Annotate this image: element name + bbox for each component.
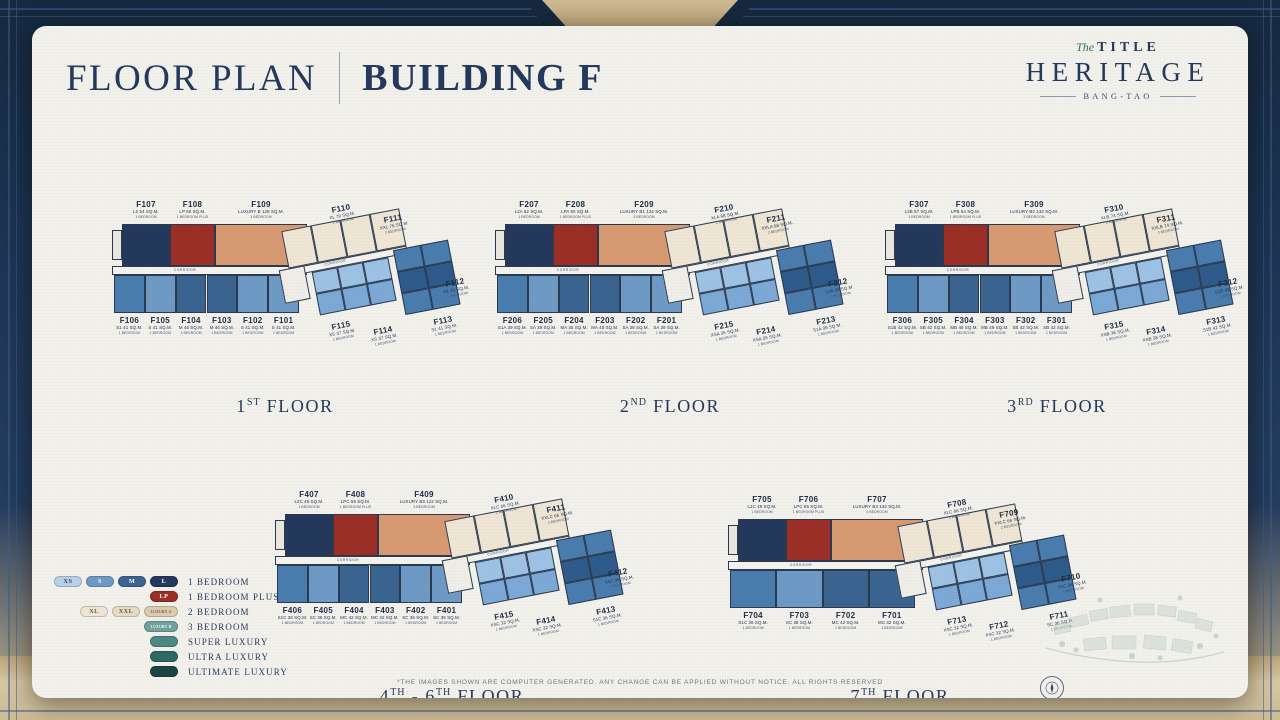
wing-blue-block-bottom-0[interactable] (1089, 289, 1119, 316)
unit-label-F302[interactable]: F302SB 42 SQ.M.1 BEDROOM (1012, 316, 1039, 336)
unit-block-F105[interactable] (145, 275, 176, 313)
legend-row: ULTIMATE LUXURY (50, 664, 310, 679)
corridor-label: CORRIDOR (337, 558, 359, 562)
unit-block-F205[interactable] (528, 275, 559, 313)
wing-blue-block-bottom-0[interactable] (932, 584, 962, 611)
unit-code: F207 (515, 200, 544, 209)
unit-label-F206[interactable]: F206S1A 39 SQ.M.1 BEDROOM (498, 316, 527, 336)
title-building: BUILDING F (362, 56, 603, 100)
floor-plan-floor-3[interactable]: F307L2B 57 SQ.M.1 BEDROOMF308LPB 64 SQ.M… (877, 186, 1237, 396)
legend-pill-m: M (118, 576, 146, 587)
unit-block-F202[interactable] (620, 275, 651, 313)
disclaimer-text: *THE IMAGES SHOWN ARE COMPUTER GENERATED… (32, 679, 1248, 686)
floor-caption-rest-2: FLOOR (451, 686, 524, 698)
floor-caption-rest: FLOOR (876, 686, 949, 698)
wing-tower-block-2-0[interactable] (784, 288, 816, 315)
unit-label-F112[interactable]: F112S1 41 SQ.M.1 BEDROOM (441, 276, 471, 301)
unit-label-F312[interactable]: F312S1B 42 SQ.M.1 BEDROOM (1213, 275, 1246, 300)
title-divider (339, 52, 340, 104)
unit-bedroom-type: 1 BEDROOM (148, 331, 172, 336)
wing-blue-block-bottom-2[interactable] (750, 279, 780, 306)
wing-blue-block-bottom-1[interactable] (504, 574, 534, 601)
unit-label-F314[interactable]: F314XSB 38 SQ.M.1 BEDROOM (1140, 323, 1173, 348)
unit-bedroom-type: 1 BEDROOM (981, 331, 1008, 336)
legend-pill-xxl: XXL (112, 606, 140, 617)
unit-code: F408 (340, 490, 372, 499)
unit-label-F703[interactable]: F703SC 36 SQ.M.1 BEDROOM (786, 611, 813, 631)
unit-label-F212[interactable]: F212S1A 39 SQ.M.1 BEDROOM (823, 275, 855, 300)
unit-block-F208[interactable] (553, 224, 598, 266)
unit-bedroom-type: 1 BEDROOM (1043, 331, 1070, 336)
unit-label-F202[interactable]: F202SA 39 SQ.M.1 BEDROOM (623, 316, 649, 336)
floor-plan-card: FLOOR PLAN BUILDING F TheTITLE HERITAGE … (32, 26, 1248, 698)
unit-bedroom-type: 1 BEDROOM (116, 331, 142, 336)
unit-bedroom-type: 1 BEDROOM (530, 331, 556, 336)
unit-label-F706[interactable]: F706LPC 55 SQ.M.1 BEDROOM PLUS (793, 495, 825, 515)
legend-label: ULTRA LUXURY (188, 652, 269, 662)
unit-label-F403[interactable]: F403MC 42 SQ.M.1 BEDROOM (371, 606, 399, 626)
wing-blue-block-bottom-2[interactable] (1140, 279, 1170, 306)
unit-bedroom-type: 1 BEDROOM PLUS (560, 215, 592, 220)
site-map-thumbnail (1040, 586, 1230, 672)
unit-label-F304[interactable]: F304MB 49 SQ.M.1 BEDROOM (950, 316, 977, 336)
unit-bedroom-type: 1 BEDROOM (340, 621, 368, 626)
wing-blue-block-bottom-0[interactable] (316, 289, 346, 316)
legend-label: 3 BEDROOM (188, 622, 250, 632)
floor-ordinal: ND (631, 397, 647, 408)
unit-bedroom-type: 1 BEDROOM (905, 215, 934, 220)
unit-block-F706[interactable] (786, 519, 831, 561)
legend-label: SUPER LUXURY (188, 637, 268, 647)
unit-code: F701 (878, 611, 906, 620)
floor-number: 7 (850, 686, 861, 698)
unit-code: F206 (498, 316, 527, 325)
unit-code: F303 (981, 316, 1008, 325)
unit-bedroom-type: 1 BEDROOM (738, 626, 768, 631)
legend-label: 1 BEDROOM (188, 577, 250, 587)
page-title: FLOOR PLAN BUILDING F (66, 52, 603, 104)
legend-pill-xl: XL (80, 606, 108, 617)
wing-blue-block-bottom-1[interactable] (341, 284, 371, 311)
unit-block-F303[interactable] (980, 275, 1011, 313)
floor-ordinal: TH (390, 687, 405, 698)
unit-block-F304[interactable] (949, 275, 980, 313)
stair-block-left[interactable] (112, 230, 122, 260)
unit-label-F105[interactable]: F105S 41 SQ.M.1 BEDROOM (148, 316, 172, 336)
unit-bedroom-type: 1 BEDROOM (294, 505, 323, 510)
unit-bedroom-type: 1 BEDROOM (950, 331, 977, 336)
unit-block-F402[interactable] (400, 565, 431, 603)
floor-number: 3 (1007, 396, 1018, 416)
unit-block-F306[interactable] (887, 275, 918, 313)
unit-label-F405[interactable]: F405SC 36 SQ.M.1 BEDROOM (310, 606, 337, 626)
unit-label-F204[interactable]: F204MA 45 SQ.M.1 BEDROOM (560, 316, 587, 336)
brand-title-line: TheTITLE (1018, 40, 1218, 56)
unit-code: F705 (747, 495, 776, 504)
stair-block-left[interactable] (728, 525, 738, 555)
unit-code: F107 (133, 200, 159, 209)
unit-label-F705[interactable]: F705L2C 49 SQ.M.1 BEDROOM (747, 495, 776, 515)
unit-label-F704[interactable]: F704S1C 36 SQ.M.1 BEDROOM (738, 611, 768, 631)
unit-bedroom-type: 1 BEDROOM (591, 331, 618, 336)
unit-code: F703 (786, 611, 813, 620)
unit-code: F202 (623, 316, 649, 325)
wing-tower-block-2-0[interactable] (1174, 288, 1206, 315)
unit-code: F305 (920, 316, 947, 325)
unit-label-F205[interactable]: F205SA 39 SQ.M.1 BEDROOM (530, 316, 556, 336)
unit-label-F408[interactable]: F408LPC 55 SQ.M.1 BEDROOM PLUS (340, 490, 372, 510)
unit-code: F702 (832, 611, 860, 620)
unit-bedroom-type: 1 BEDROOM (133, 215, 159, 220)
title-floor-plan: FLOOR PLAN (66, 57, 317, 100)
unit-bedroom-type: 1 BEDROOM PLUS (793, 510, 825, 515)
unit-bedroom-type: 1 BEDROOM PLUS (340, 505, 372, 510)
floor-caption-floor-3: 3RD FLOOR (937, 396, 1177, 417)
unit-label-F208[interactable]: F208LPA 50 SQ.M.1 BEDROOM PLUS (560, 200, 592, 220)
brand-heritage: HERITAGE (1018, 57, 1218, 88)
unit-block-F207[interactable] (505, 224, 553, 266)
corridor-label: CORRIDOR (790, 563, 812, 567)
unit-label-F108[interactable]: F108LP 60 SQ.M.1 BEDROOM PLUS (177, 200, 209, 220)
unit-label-F412[interactable]: F412S1C 36 SQ.M.1 BEDROOM (603, 565, 636, 590)
legend-pill-blank (150, 636, 178, 647)
unit-bedroom-type: 1 BEDROOM PLUS (177, 215, 209, 220)
unit-label-F214[interactable]: F214XSA 35 SQ.M.1 BEDROOM (751, 323, 784, 348)
unit-label-F307[interactable]: F307L2B 57 SQ.M.1 BEDROOM (905, 200, 934, 220)
floor-caption-rest: FLOOR (1034, 396, 1107, 416)
floor-caption-floor-4-6: 4TH - 6TH FLOOR (332, 686, 572, 698)
unit-bedroom-type: 1 BEDROOM (878, 626, 906, 631)
legend-pill-lp: LP (150, 591, 178, 602)
unit-bedroom-type: 1 BEDROOM (888, 331, 917, 336)
unit-bedroom-type: 1 BEDROOM PLUS (950, 215, 982, 220)
unit-block-F702[interactable] (823, 570, 869, 608)
unit-code: F103 (210, 316, 234, 325)
legend-pill-group (50, 666, 178, 677)
legend-pill-luxury-b: LUXURY B (144, 621, 178, 632)
legend-label: ULTIMATE LUXURY (188, 667, 288, 677)
unit-label-F203[interactable]: F203MA 45 SQ.M.1 BEDROOM (591, 316, 618, 336)
unit-label-F313[interactable]: F313S1B 42 SQ.M.1 BEDROOM (1201, 313, 1234, 338)
unit-code: F106 (116, 316, 142, 325)
unit-label-F701[interactable]: F701MC 42 SQ.M.1 BEDROOM (878, 611, 906, 631)
unit-bedroom-type: 1 BEDROOM (1012, 331, 1039, 336)
wing-blue-block-bottom-1[interactable] (724, 284, 754, 311)
unit-block-F204[interactable] (559, 275, 590, 313)
unit-code: F307 (905, 200, 934, 209)
unit-label-F404[interactable]: F404MC 42 SQ.M.1 BEDROOM (340, 606, 368, 626)
unit-code: F204 (560, 316, 587, 325)
legend-pill-blank (150, 651, 178, 662)
unit-label-F303[interactable]: F303MB 49 SQ.M.1 BEDROOM (981, 316, 1008, 336)
wing-blue-block-bottom-0[interactable] (479, 579, 509, 606)
unit-label-F114[interactable]: F114XS 37 SQ.M.1 BEDROOM (369, 324, 399, 349)
unit-label-F106[interactable]: F106S1 41 SQ.M.1 BEDROOM (116, 316, 142, 336)
unit-block-F107[interactable] (122, 224, 170, 266)
floor-plan-floor-7[interactable]: F705L2C 49 SQ.M.1 BEDROOMF706LPC 55 SQ.M… (720, 481, 1080, 691)
unit-block-F104[interactable] (176, 275, 207, 313)
brand-title: TITLE (1097, 40, 1160, 55)
stair-block-left[interactable] (495, 230, 505, 260)
legend-pill-s: S (86, 576, 114, 587)
stair-block-left[interactable] (885, 230, 895, 260)
unit-block-F102[interactable] (237, 275, 268, 313)
unit-label-F104[interactable]: F104M 46 SQ.M.1 BEDROOM (179, 316, 203, 336)
legend-row: LUXURY B3 BEDROOM (50, 619, 310, 634)
legend-row: ULTRA LUXURY (50, 649, 310, 664)
unit-label-F402[interactable]: F402SC 36 SQ.M.1 BEDROOM (402, 606, 429, 626)
unit-block-F203[interactable] (590, 275, 621, 313)
wing-blue-block-bottom-2[interactable] (367, 279, 397, 306)
unit-label-F102[interactable]: F102S 41 SQ.M.1 BEDROOM (241, 316, 265, 336)
floor-ordinal: RD (1018, 397, 1034, 408)
legend-row: XSSML1 BEDROOM (50, 574, 310, 589)
legend-pill-l: L (150, 576, 178, 587)
unit-code: F105 (148, 316, 172, 325)
floor-caption-floor-1: 1ST FLOOR (165, 396, 405, 417)
floor-number: 2 (620, 396, 631, 416)
unit-code: F208 (560, 200, 592, 209)
wing-blue-block-bottom-2[interactable] (983, 574, 1013, 601)
unit-bedroom-type: 1 BEDROOM (433, 621, 460, 626)
wing-tower-block-2-0[interactable] (401, 288, 433, 315)
unit-bedroom-type: 1 BEDROOM (920, 331, 947, 336)
unit-bedroom-type: 1 BEDROOM (210, 331, 234, 336)
unit-block-F405[interactable] (308, 565, 339, 603)
unit-bedroom-type: 1 BEDROOM (515, 215, 544, 220)
unit-block-F108[interactable] (170, 224, 215, 266)
unit-bedroom-type: 1 BEDROOM (653, 331, 679, 336)
unit-code: F706 (793, 495, 825, 504)
unit-label-F414[interactable]: F414XSC 32 SQ.M.1 BEDROOM (530, 613, 563, 638)
unit-block-F307[interactable] (895, 224, 943, 266)
unit-code: F404 (340, 606, 368, 615)
brand-location: BANG-TAO (1018, 91, 1218, 101)
unit-code: F304 (950, 316, 977, 325)
floor-caption-rest: FLOOR (261, 396, 334, 416)
legend-pill-group: LP (50, 591, 178, 602)
legend-pill-xs: XS (54, 576, 82, 587)
wing-tower-block-2-0[interactable] (564, 578, 596, 605)
unit-bedroom-type: 1 BEDROOM (832, 626, 860, 631)
floor-plan-floor-2[interactable]: F207L2A 52 SQ.M.1 BEDROOMF208LPA 50 SQ.M… (487, 186, 847, 396)
unit-code: F104 (179, 316, 203, 325)
unit-block-F704[interactable] (730, 570, 776, 608)
unit-code: F403 (371, 606, 399, 615)
unit-block-F302[interactable] (1010, 275, 1041, 313)
unit-code: F306 (888, 316, 917, 325)
unit-bedroom-type: 1 BEDROOM (560, 331, 587, 336)
unit-block-F103[interactable] (207, 275, 238, 313)
unit-bedroom-type: 1 BEDROOM (623, 331, 649, 336)
unit-label-F113[interactable]: F113S1 41 SQ.M.1 BEDROOM (429, 314, 459, 339)
corridor-label: CORRIDOR (557, 268, 579, 272)
floor-ordinal: ST (247, 397, 261, 408)
unit-code: F102 (241, 316, 265, 325)
unit-label-F306[interactable]: F306S1B 42 SQ.M.1 BEDROOM (888, 316, 917, 336)
unit-code: F704 (738, 611, 768, 620)
legend-pill-group: LUXURY B (50, 621, 178, 632)
floor-caption-rest: - 6 (406, 686, 436, 698)
unit-label-F407[interactable]: F407L2C 49 SQ.M.1 BEDROOM (294, 490, 323, 510)
unit-code: F405 (310, 606, 337, 615)
unit-bedroom-type: 1 BEDROOM (272, 331, 296, 336)
floor-ordinal-2: TH (436, 687, 451, 698)
unit-bedroom-type: 1 BEDROOM (310, 621, 337, 626)
unit-block-F408[interactable] (333, 514, 378, 556)
unit-label-F305[interactable]: F305SB 42 SQ.M.1 BEDROOM (920, 316, 947, 336)
unit-block-F404[interactable] (339, 565, 370, 603)
wing-blue-block-bottom-0[interactable] (699, 289, 729, 316)
unit-bedroom-type: 1 BEDROOM (179, 331, 203, 336)
legend-pill-group (50, 651, 178, 662)
unit-block-F703[interactable] (776, 570, 822, 608)
unit-block-F407[interactable] (285, 514, 333, 556)
unit-code: F108 (177, 200, 209, 209)
unit-code: F407 (294, 490, 323, 499)
legend: XSSML1 BEDROOMLP1 BEDROOM PLUSXLXXLLUXUR… (50, 574, 310, 679)
legend-pill-group (50, 636, 178, 647)
legend-row: LP1 BEDROOM PLUS (50, 589, 310, 604)
legend-label: 2 BEDROOM (188, 607, 250, 617)
floor-plan-floor-4-6[interactable]: F407L2C 49 SQ.M.1 BEDROOMF408LPC 55 SQ.M… (267, 476, 627, 686)
unit-label-F213[interactable]: F213S1A 39 SQ.M.1 BEDROOM (811, 313, 843, 338)
unit-label-F712[interactable]: F712XSC 32 SQ.M.1 BEDROOM (983, 618, 1016, 643)
floor-caption-floor-2: 2ND FLOOR (550, 396, 790, 417)
floor-number: 1 (236, 396, 247, 416)
unit-block-F206[interactable] (497, 275, 528, 313)
brand-the: The (1076, 40, 1094, 54)
legend-row: XLXXLLUXURY A2 BEDROOM (50, 604, 310, 619)
legend-pill-luxury-a: LUXURY A (144, 606, 178, 617)
legend-row: SUPER LUXURY (50, 634, 310, 649)
legend-pill-group: XSSML (50, 576, 178, 587)
floor-ordinal: TH (861, 687, 876, 698)
legend-label: 1 BEDROOM PLUS (188, 592, 279, 602)
unit-block-F403[interactable] (370, 565, 401, 603)
corridor-label: CORRIDOR (174, 268, 196, 272)
unit-label-F413[interactable]: F413S1C 36 SQ.M.1 BEDROOM (591, 603, 624, 628)
unit-block-F305[interactable] (918, 275, 949, 313)
unit-block-F106[interactable] (114, 275, 145, 313)
floor-number: 4 (380, 686, 391, 698)
unit-code: F205 (530, 316, 556, 325)
unit-code: F302 (1012, 316, 1039, 325)
unit-label-F702[interactable]: F702MC 42 SQ.M.1 BEDROOM (832, 611, 860, 631)
wing-blue-block-bottom-2[interactable] (530, 569, 560, 596)
corridor-label: CORRIDOR (947, 268, 969, 272)
unit-block-F705[interactable] (738, 519, 786, 561)
wing-blue-block-bottom-1[interactable] (1114, 284, 1144, 311)
floor-caption-floor-7: 7TH FLOOR (780, 686, 1020, 698)
stair-block-left[interactable] (275, 520, 285, 550)
unit-bedroom-type: 1 BEDROOM (241, 331, 265, 336)
unit-bedroom-type: 1 BEDROOM (402, 621, 429, 626)
unit-bedroom-type: 1 BEDROOM (371, 621, 399, 626)
unit-label-F207[interactable]: F207L2A 52 SQ.M.1 BEDROOM (515, 200, 544, 220)
unit-bedroom-type: 1 BEDROOM (498, 331, 527, 336)
wing-blue-block-bottom-1[interactable] (957, 579, 987, 606)
brand-logo: TheTITLE HERITAGE BANG-TAO (1018, 40, 1218, 101)
unit-bedroom-type: 1 BEDROOM (786, 626, 813, 631)
legend-pill-group: XLXXLLUXURY A (50, 606, 178, 617)
unit-label-F308[interactable]: F308LPB 64 SQ.M.1 BEDROOM PLUS (950, 200, 982, 220)
unit-code: F308 (950, 200, 982, 209)
unit-label-F103[interactable]: F103M 46 SQ.M.1 BEDROOM (210, 316, 234, 336)
unit-code: F402 (402, 606, 429, 615)
floor-plan-floor-1[interactable]: F107L2 54 SQ.M.1 BEDROOMF108LP 60 SQ.M.1… (104, 186, 464, 396)
unit-block-F308[interactable] (943, 224, 988, 266)
unit-bedroom-type: 1 BEDROOM (747, 510, 776, 515)
unit-code: F203 (591, 316, 618, 325)
unit-label-F107[interactable]: F107L2 54 SQ.M.1 BEDROOM (133, 200, 159, 220)
floor-caption-rest: FLOOR (647, 396, 720, 416)
frame-notch (542, 0, 738, 26)
legend-pill-blank (150, 666, 178, 677)
